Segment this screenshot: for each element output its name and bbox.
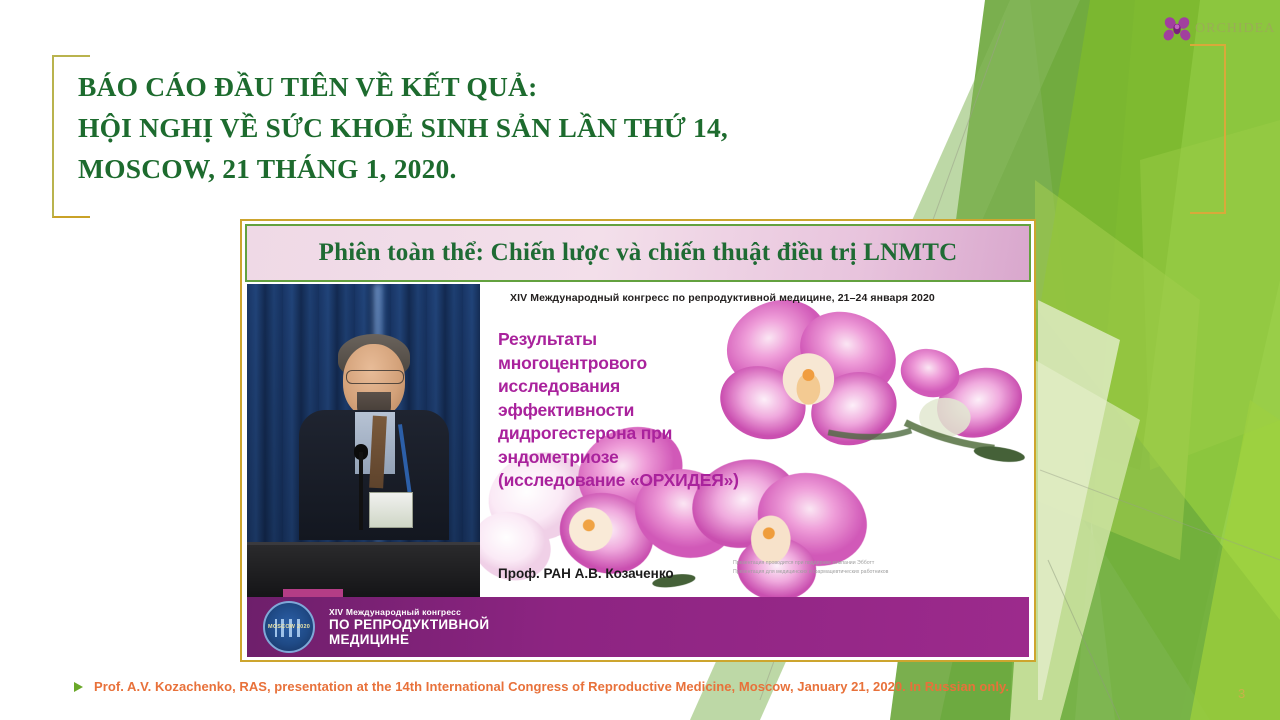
footer-line-small: XIV Международный конгресс — [329, 607, 489, 617]
footer-line-big-1: ПО РЕПРОДУКТИВНОЙ — [329, 617, 489, 633]
orchidea-logo: ORCHIDEA — [1162, 14, 1275, 44]
speaker-photo — [247, 284, 480, 597]
title-line-3: MOSCOW, 21 THÁNG 1, 2020. — [78, 148, 978, 189]
embedded-slide-screenshot: Phiên toàn thể: Chiến lược và chiến thuậ… — [240, 219, 1036, 662]
inner-slide-fine-print: Презентация проводится при поддержке ком… — [733, 559, 983, 577]
inner-slide-header: XIV Международный конгресс по репродукти… — [510, 292, 1021, 304]
presentation-slide: BÁO CÁO ĐẦU TIÊN VỀ KẾT QUẢ: HỘI NGHỊ VỀ… — [0, 0, 1280, 720]
title-line-1: BÁO CÁO ĐẦU TIÊN VỀ KẾT QUẢ: — [78, 66, 978, 107]
congress-seal-icon: MOSCOW 2020 — [263, 601, 315, 653]
footer-text-block: XIV Международный конгресс ПО РЕПРОДУКТИ… — [329, 607, 489, 648]
inner-slide-body: Результаты многоцентрового исследования … — [498, 328, 743, 493]
fine-print-line-1: Презентация проводится при поддержке ком… — [733, 559, 983, 568]
russian-slide-content: XIV Международный конгресс по репродукти… — [480, 284, 1029, 597]
title-line-2: HỘI NGHỊ VỀ SỨC KHOẺ SINH SẢN LẦN THỨ 14… — [78, 107, 978, 148]
screenshot-banner-text: Phiên toàn thể: Chiến lược và chiến thuậ… — [319, 239, 958, 267]
logo-text: ORCHIDEA — [1195, 21, 1275, 37]
slide-caption: Prof. A.V. Kozachenko, RAS, presentation… — [74, 679, 1009, 694]
footer-line-big-2: МЕДИЦИНЕ — [329, 632, 489, 648]
screenshot-banner: Phiên toàn thể: Chiến lược và chiến thuậ… — [245, 224, 1031, 282]
seal-label: MOSCOW 2020 — [265, 624, 313, 630]
slide-number: 3 — [1238, 686, 1245, 701]
triangle-bullet-icon — [74, 682, 83, 692]
page-title: BÁO CÁO ĐẦU TIÊN VỀ KẾT QUẢ: HỘI NGHỊ VỀ… — [78, 66, 978, 189]
caption-text: Prof. A.V. Kozachenko, RAS, presentation… — [94, 679, 1009, 694]
orchid-flower-icon — [1162, 14, 1192, 44]
inner-slide-author: Проф. РАН А.В. Козаченко — [498, 566, 674, 581]
screenshot-body: XIV Международный конгресс по репродукти… — [247, 284, 1029, 597]
inner-slide-footer: MOSCOW 2020 XIV Международный конгресс П… — [247, 597, 1029, 657]
right-gold-bracket — [1190, 44, 1226, 214]
fine-print-line-2: Презентация для медицинских и фармацевти… — [733, 568, 983, 577]
